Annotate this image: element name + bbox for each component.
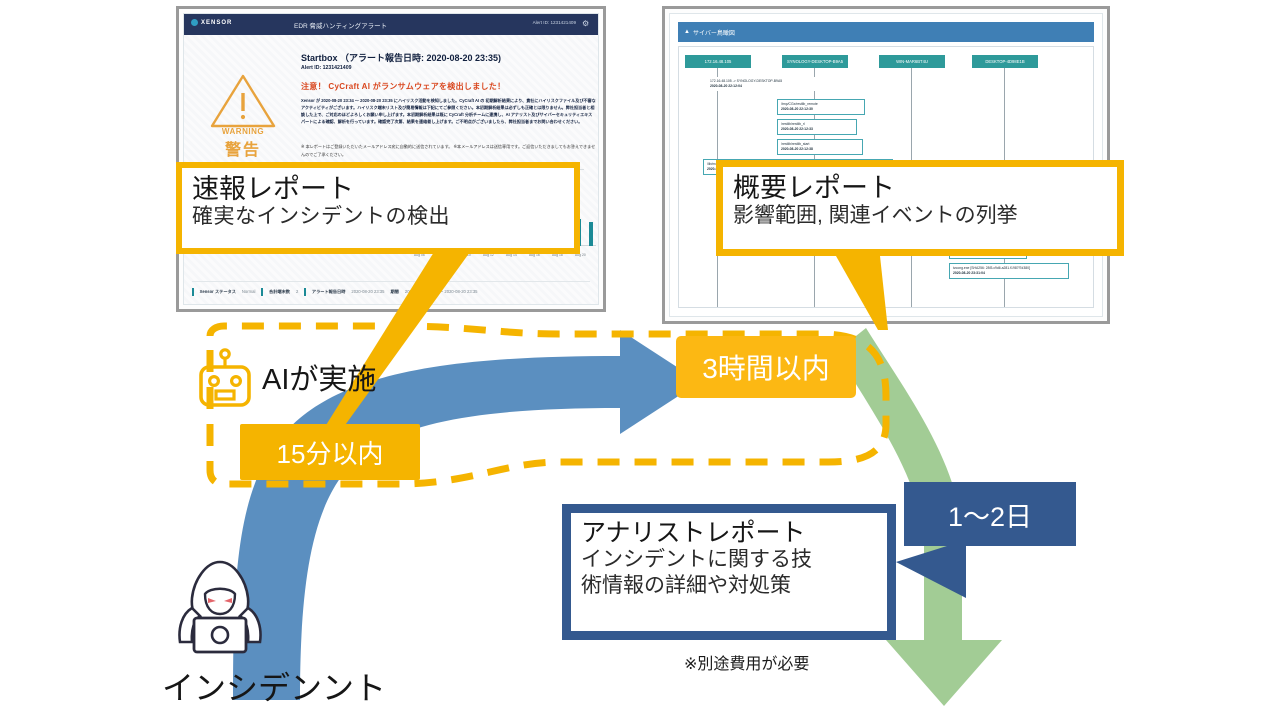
badge-one-to-two-days-label: 1〜2日 bbox=[948, 495, 1032, 534]
hacker-icon bbox=[168, 556, 272, 660]
badge-within-3-hours-label: 3時間以内 bbox=[702, 347, 830, 387]
analyst-report-callout-subtitle-line2: 術情報の詳細や対処策 bbox=[581, 573, 877, 599]
summary-report-callout-subtitle: 影響範囲, 関連イベントの列挙 bbox=[733, 203, 1107, 229]
badge-within-3-hours[interactable]: 3時間以内 bbox=[676, 336, 856, 398]
badge-within-15-min[interactable]: 15分以内 bbox=[240, 424, 420, 480]
flash-report-callout-title: 速報レポート bbox=[192, 174, 564, 204]
badge-one-to-two-days[interactable]: 1〜2日 bbox=[904, 482, 1076, 546]
incident-label: インシデンント bbox=[162, 663, 386, 709]
summary-report-leader bbox=[836, 256, 888, 330]
footnote-extra-cost: ※別途費用が必要 bbox=[684, 650, 809, 674]
analyst-report-callout-subtitle-line1: インシデントに関する技 bbox=[581, 547, 877, 573]
summary-report-callout[interactable]: 概要レポート 影響範囲, 関連イベントの列挙 bbox=[716, 160, 1124, 256]
analyst-report-callout-title: アナリストレポート bbox=[581, 519, 877, 547]
summary-report-callout-title: 概要レポート bbox=[733, 173, 1107, 203]
badge-within-15-min-label: 15分以内 bbox=[277, 434, 384, 471]
analyst-report-callout[interactable]: アナリストレポート インシデントに関する技 術情報の詳細や対処策 bbox=[562, 504, 896, 640]
robot-icon bbox=[196, 348, 254, 410]
flash-report-callout-subtitle: 確実なインシデントの検出 bbox=[192, 204, 564, 230]
flash-report-callout[interactable]: 速報レポート 確実なインシデントの検出 bbox=[176, 162, 580, 254]
ai-performed-label: AIが実施 bbox=[262, 356, 376, 398]
